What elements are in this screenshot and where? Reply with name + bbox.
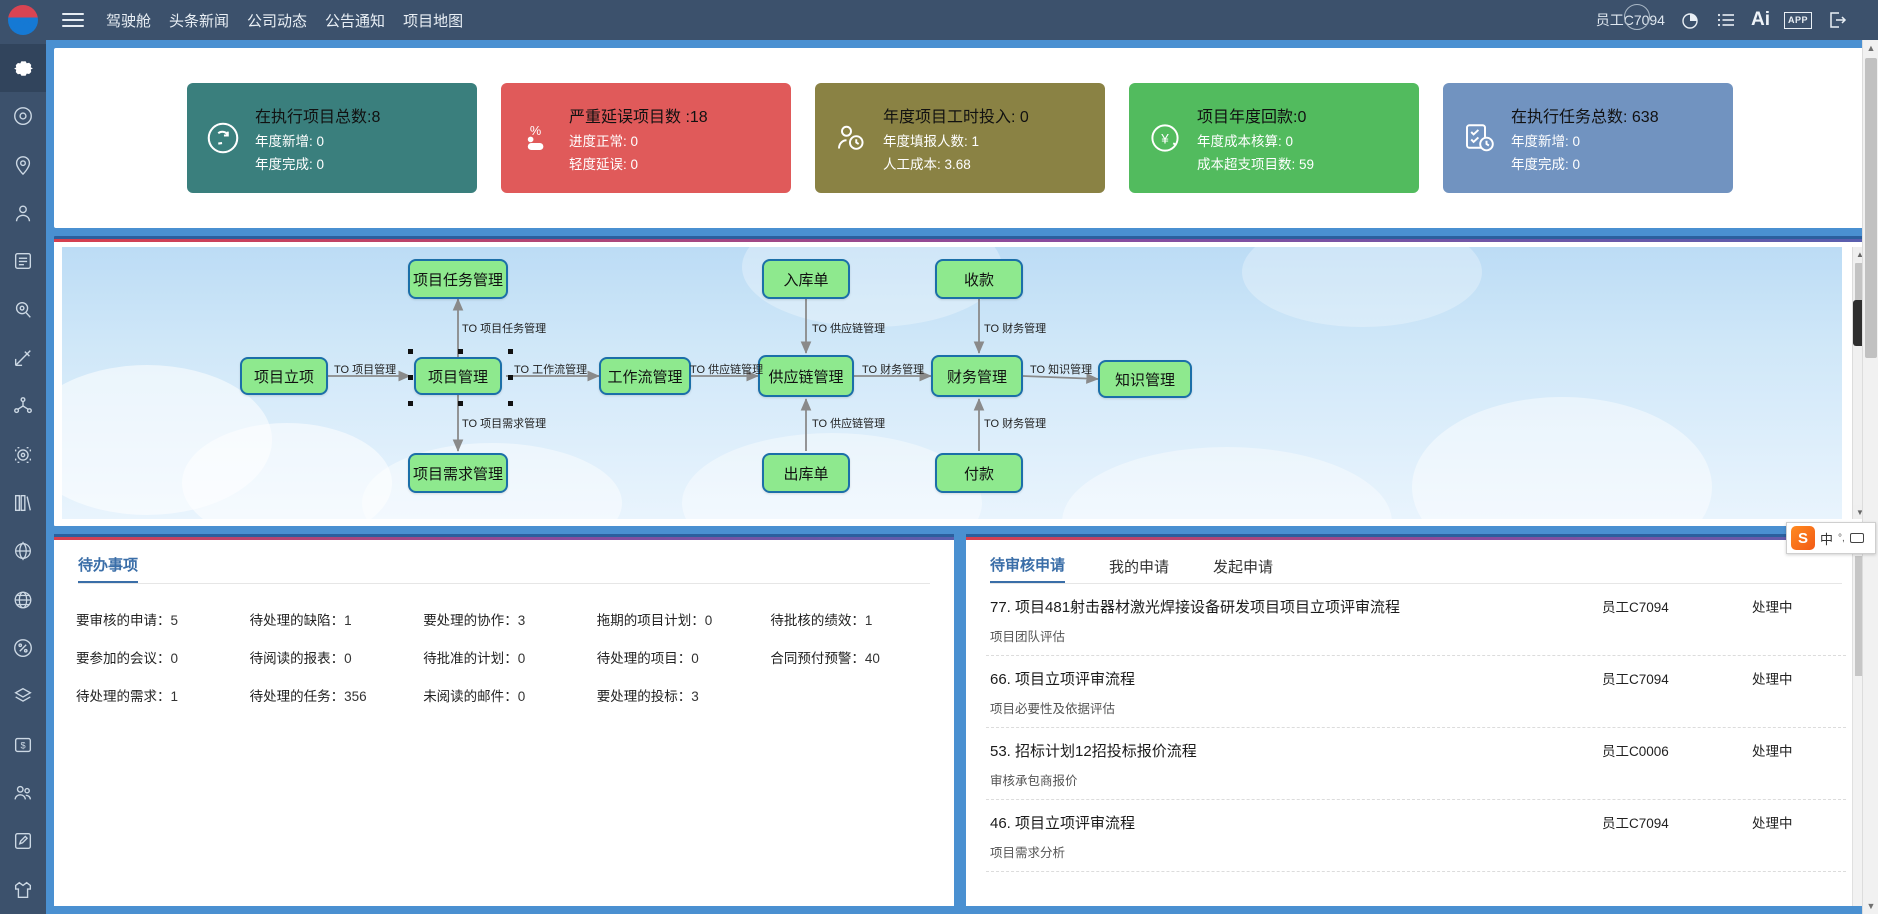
todo-value: 0 xyxy=(344,651,352,666)
todo-value: 0 xyxy=(705,613,713,628)
approval-list: 77. 项目481射击器材激光焊接设备研发项目项目立项评审流程 项目团队评估 员… xyxy=(966,584,1866,872)
todo-value: 0 xyxy=(518,651,526,666)
ime-punctuation-mode[interactable]: °, xyxy=(1838,533,1845,544)
target-icon xyxy=(12,105,34,127)
sidebar-item-money[interactable]: $ xyxy=(0,721,46,769)
todo-grid: 要审核的申请：5 待处理的缺陷：1 要处理的协作：3 拖期的项目计划：0 待批核… xyxy=(54,584,954,714)
header-actions: 员工C7094 Ai APP xyxy=(1596,9,1878,31)
globe-icon xyxy=(12,589,34,611)
todo-item-meetings-to-attend[interactable]: 要参加的会议：0 xyxy=(76,638,240,676)
sidebar-item-camera-target[interactable] xyxy=(0,431,46,479)
nav-item-cockpit[interactable]: 驾驶舱 xyxy=(106,10,151,31)
camera-target-icon xyxy=(12,444,34,466)
flow-node-label: 供应链管理 xyxy=(768,366,843,387)
todo-label: 要审核的申请 xyxy=(76,613,157,628)
sidebar-item-books[interactable] xyxy=(0,479,46,527)
percent-icon xyxy=(12,637,34,659)
flow-node-outbound-order[interactable]: 出库单 xyxy=(762,453,850,493)
edge-label: TO 项目管理 xyxy=(334,361,396,377)
sidebar-item-chart-pen[interactable] xyxy=(0,334,46,382)
sidebar-item-document[interactable] xyxy=(0,237,46,285)
todo-value: 356 xyxy=(344,689,367,704)
flow-node-project-task-management[interactable]: 项目任务管理 xyxy=(408,259,508,299)
resize-handle[interactable] xyxy=(458,349,463,354)
collapse-panel-handle[interactable] xyxy=(1853,300,1862,346)
sidebar-item-target[interactable] xyxy=(0,92,46,140)
scroll-down-arrow[interactable]: ▼ xyxy=(1863,898,1878,914)
approval-panel: 待审核申请 我的申请 发起申请 77. 项目481射击器材激光焊接设备研发项目项… xyxy=(966,534,1866,906)
yuan-circle-icon: ¥ xyxy=(1145,118,1185,158)
nav-item-company-news[interactable]: 公司动态 xyxy=(247,10,307,31)
kpi-card-active-projects[interactable]: 在执行项目总数:8 年度新增: 0 年度完成: 0 xyxy=(187,83,477,193)
logout-icon[interactable] xyxy=(1826,9,1848,31)
sidebar-item-user[interactable] xyxy=(0,189,46,237)
ai-icon[interactable]: Ai xyxy=(1751,9,1770,31)
kpi-sub-1: 年度成本核算: 0 xyxy=(1197,130,1314,150)
edge-label: TO 项目需求管理 xyxy=(462,415,546,431)
edge-label: TO 财务管理 xyxy=(984,415,1046,431)
table-row[interactable]: 46. 项目立项评审流程 项目需求分析 员工C7094 处理中 xyxy=(986,800,1846,872)
tab-new-application[interactable]: 发起申请 xyxy=(1213,556,1273,583)
table-row[interactable]: 66. 项目立项评审流程 项目必要性及依据评估 员工C7094 处理中 xyxy=(986,656,1846,728)
tab-my-applications[interactable]: 我的申请 xyxy=(1109,556,1169,583)
kpi-title: 年度项目工时投入: 0 xyxy=(883,103,1029,127)
todo-item-reports-to-read[interactable]: 待阅读的报表：0 xyxy=(250,638,414,676)
kpi-card-work-hours[interactable]: 年度项目工时投入: 0 年度填报人数: 1 人工成本: 3.68 xyxy=(815,83,1105,193)
todo-item-pending-approval-request[interactable]: 要审核的申请：5 xyxy=(76,600,240,638)
approval-subtitle: 审核承包商报价 xyxy=(990,770,1602,789)
kpi-panel: 在执行项目总数:8 年度新增: 0 年度完成: 0 % 严重延误项目数 :18 … xyxy=(54,48,1866,228)
edge-label: TO 供应链管理 xyxy=(690,361,763,377)
flow-node-supply-chain-management[interactable]: 供应链管理 xyxy=(758,355,854,397)
todo-value: 5 xyxy=(171,613,179,628)
todo-item-pending-requirements[interactable]: 待处理的需求：1 xyxy=(76,676,240,714)
kpi-card-active-tasks[interactable]: 在执行任务总数: 638 年度新增: 0 年度完成: 0 xyxy=(1443,83,1733,193)
people-icon xyxy=(12,782,34,804)
kpi-sub-1: 进度正常: 0 xyxy=(569,130,708,150)
sidebar-item-location[interactable] xyxy=(0,141,46,189)
task-clock-icon xyxy=(1459,118,1499,158)
flow-node-project-requirement-management[interactable]: 项目需求管理 xyxy=(408,453,508,493)
todo-value: 0 xyxy=(171,651,179,666)
edge-label: TO 知识管理 xyxy=(1030,361,1092,377)
kpi-sub-2: 成本超支项目数: 59 xyxy=(1197,153,1314,173)
sidebar-item-settings[interactable] xyxy=(0,44,46,92)
list-icon[interactable] xyxy=(1715,9,1737,31)
status-badge: 处理中 xyxy=(1752,812,1842,832)
sidebar-item-user-search[interactable] xyxy=(0,286,46,334)
flow-node-label: 入库单 xyxy=(783,269,828,290)
current-user[interactable]: 员工C7094 xyxy=(1596,10,1665,30)
todo-item-unread-mail[interactable]: 未阅读的邮件：0 xyxy=(423,676,587,714)
sidebar-item-globe-gear[interactable] xyxy=(0,527,46,575)
kpi-title: 项目年度回款:0 xyxy=(1197,103,1314,127)
kpi-sub-2: 人工成本: 3.68 xyxy=(883,153,1029,173)
flow-node-label: 项目任务管理 xyxy=(413,269,503,290)
todo-label: 待处理的任务 xyxy=(250,689,331,704)
todo-value: 3 xyxy=(518,613,526,628)
flow-node-label: 项目管理 xyxy=(428,366,488,387)
todo-value: 3 xyxy=(691,689,699,704)
todo-item-plans-to-approve[interactable]: 待批准的计划：0 xyxy=(423,638,587,676)
panel-accent-bar xyxy=(54,239,1866,242)
edge-label: TO 财务管理 xyxy=(984,320,1046,336)
todo-panel: 待办事项 要审核的申请：5 待处理的缺陷：1 要处理的协作：3 拖期的项目计划：… xyxy=(54,534,954,906)
kpi-card-delayed-projects[interactable]: % 严重延误项目数 :18 进度正常: 0 轻度延误: 0 xyxy=(501,83,791,193)
todo-label: 待阅读的报表 xyxy=(250,651,331,666)
chart-pen-icon xyxy=(12,347,34,369)
table-row[interactable]: 77. 项目481射击器材激光焊接设备研发项目项目立项评审流程 项目团队评估 员… xyxy=(986,584,1846,656)
flow-node-receipt[interactable]: 收款 xyxy=(935,259,1023,299)
resize-handle[interactable] xyxy=(458,401,463,406)
todo-label: 待批核的绩效 xyxy=(770,613,851,628)
kpi-title: 严重延误项目数 :18 xyxy=(569,103,708,127)
sidebar-item-shirt[interactable] xyxy=(0,866,46,914)
main-content: 在执行项目总数:8 年度新增: 0 年度完成: 0 % 严重延误项目数 :18 … xyxy=(46,40,1878,914)
todo-value: 1 xyxy=(865,613,873,628)
edge-label: TO 供应链管理 xyxy=(812,320,885,336)
sidebar-item-people[interactable] xyxy=(0,769,46,817)
todo-item-pending-collaboration[interactable]: 要处理的协作：3 xyxy=(423,600,587,638)
edge-label: TO 供应链管理 xyxy=(812,415,885,431)
scroll-up-arrow[interactable]: ▲ xyxy=(1863,40,1878,56)
flow-node-finance-management[interactable]: 财务管理 xyxy=(931,355,1023,397)
document-icon xyxy=(12,250,34,272)
resize-handle[interactable] xyxy=(408,375,413,380)
user-icon xyxy=(12,202,34,224)
flow-node-payment[interactable]: 付款 xyxy=(935,453,1023,493)
todo-label: 待处理的需求 xyxy=(76,689,157,704)
status-badge: 处理中 xyxy=(1752,740,1842,760)
sidebar-item-percent[interactable] xyxy=(0,624,46,672)
flow-node-project-initiation[interactable]: 项目立项 xyxy=(240,357,328,395)
kpi-title: 在执行任务总数: 638 xyxy=(1511,103,1659,127)
edge-label: TO 项目任务管理 xyxy=(462,320,546,336)
gear-icon xyxy=(11,56,36,81)
app-icon[interactable]: APP xyxy=(1784,12,1812,29)
resize-handle[interactable] xyxy=(508,375,513,380)
flow-node-project-management[interactable]: 项目管理 xyxy=(414,357,502,395)
todo-label: 未阅读的邮件 xyxy=(423,689,504,704)
app-logo[interactable] xyxy=(0,0,46,40)
books-icon xyxy=(12,492,34,514)
approval-title: 46. 项目立项评审流程 xyxy=(990,812,1602,833)
approval-title: 77. 项目481射击器材激光焊接设备研发项目项目立项评审流程 xyxy=(990,596,1602,617)
todo-item-pending-defects[interactable]: 待处理的缺陷：1 xyxy=(250,600,414,638)
edge-label: TO 工作流管理 xyxy=(514,361,587,377)
flow-canvas[interactable]: 项目立项 项目管理 项目任务管理 项目需求管理 xyxy=(62,247,1842,519)
approval-subtitle: 项目团队评估 xyxy=(990,626,1602,645)
kpi-title: 在执行项目总数:8 xyxy=(255,103,380,127)
approval-user: 员工C7094 xyxy=(1602,596,1752,616)
kpi-card-annual-payment[interactable]: ¥ 项目年度回款:0 年度成本核算: 0 成本超支项目数: 59 xyxy=(1129,83,1419,193)
todo-value: 0 xyxy=(691,651,699,666)
approval-panel-header: 待审核申请 我的申请 发起申请 xyxy=(966,537,1866,583)
approval-user: 员工C7094 xyxy=(1602,668,1752,688)
resize-handle[interactable] xyxy=(408,401,413,406)
page-vertical-scrollbar[interactable]: ▲ ▼ xyxy=(1862,40,1878,914)
flow-node-workflow-management[interactable]: 工作流管理 xyxy=(599,357,691,395)
svg-text:¥: ¥ xyxy=(1160,131,1169,146)
top-header: 驾驶舱 头条新闻 公司动态 公告通知 项目地图 员工C7094 xyxy=(0,0,1878,40)
flow-node-label: 付款 xyxy=(964,463,994,484)
share-nodes-icon xyxy=(12,395,34,417)
flow-node-label: 财务管理 xyxy=(947,366,1007,387)
kpi-sub-1: 年度新增: 0 xyxy=(1511,130,1659,150)
pen-square-icon xyxy=(12,830,34,852)
flow-diagram-panel: 项目立项 项目管理 项目任务管理 项目需求管理 xyxy=(54,236,1866,526)
percent-pill-icon: % xyxy=(517,118,557,158)
todo-item-contract-prepayment-alert[interactable]: 合同预付预警：40 xyxy=(770,638,934,676)
kpi-sub-2: 轻度延误: 0 xyxy=(569,153,708,173)
location-pin-icon xyxy=(12,154,34,176)
user-search-icon xyxy=(12,299,34,321)
keyboard-icon[interactable] xyxy=(1850,533,1864,543)
todo-item-pending-tasks[interactable]: 待处理的任务：356 xyxy=(250,676,414,714)
sidebar-item-globe[interactable] xyxy=(0,576,46,624)
todo-label: 拖期的项目计划 xyxy=(597,613,692,628)
todo-item-delayed-project-plan[interactable]: 拖期的项目计划：0 xyxy=(597,600,761,638)
todo-label: 合同预付预警 xyxy=(770,651,851,666)
main-nav: 驾驶舱 头条新闻 公司动态 公告通知 项目地图 xyxy=(106,10,463,31)
approval-subtitle: 项目必要性及依据评估 xyxy=(990,698,1602,717)
svg-text:%: % xyxy=(530,123,541,138)
sogou-logo-icon[interactable]: S xyxy=(1791,526,1815,550)
kpi-sub-1: 年度新增: 0 xyxy=(255,130,380,150)
flow-node-label: 项目需求管理 xyxy=(413,463,503,484)
kpi-sub-2: 年度完成: 0 xyxy=(1511,153,1659,173)
tab-pending-approval[interactable]: 待审核申请 xyxy=(990,554,1065,583)
sidebar-item-pen-square[interactable] xyxy=(0,817,46,865)
sidebar-item-share-nodes[interactable] xyxy=(0,382,46,430)
resize-handle[interactable] xyxy=(508,401,513,406)
table-row[interactable]: 53. 招标计划12招投标报价流程 审核承包商报价 员工C0006 处理中 xyxy=(986,728,1846,800)
tab-todo[interactable]: 待办事项 xyxy=(78,554,138,583)
kpi-sub-1: 年度填报人数: 1 xyxy=(883,130,1029,150)
todo-item-empty xyxy=(770,676,934,714)
money-icon: $ xyxy=(12,734,34,756)
approval-title: 53. 招标计划12招投标报价流程 xyxy=(990,740,1602,761)
ime-language-mode[interactable]: 中 xyxy=(1820,529,1833,548)
approval-title: 66. 项目立项评审流程 xyxy=(990,668,1602,689)
flow-node-knowledge-management[interactable]: 知识管理 xyxy=(1098,360,1192,398)
todo-item-pending-performance[interactable]: 待批核的绩效：1 xyxy=(770,600,934,638)
todo-value: 40 xyxy=(865,651,880,666)
todo-label: 待批准的计划 xyxy=(423,651,504,666)
left-sidebar: $ xyxy=(0,40,46,914)
approval-user: 员工C0006 xyxy=(1602,740,1752,760)
shirt-icon xyxy=(12,879,34,901)
svg-text:$: $ xyxy=(20,740,25,750)
todo-value: 1 xyxy=(171,689,179,704)
kpi-sub-2: 年度完成: 0 xyxy=(255,153,380,173)
todo-value: 0 xyxy=(518,689,526,704)
flow-node-label: 知识管理 xyxy=(1115,369,1175,390)
todo-label: 待处理的缺陷 xyxy=(250,613,331,628)
todo-label: 要参加的会议 xyxy=(76,651,157,666)
flow-node-inbound-order[interactable]: 入库单 xyxy=(762,259,850,299)
todo-label: 待处理的项目 xyxy=(597,651,678,666)
resize-handle[interactable] xyxy=(508,349,513,354)
resize-handle[interactable] xyxy=(408,349,413,354)
approval-user: 员工C7094 xyxy=(1602,812,1752,832)
pie-chart-icon[interactable] xyxy=(1679,9,1701,31)
todo-item-pending-projects[interactable]: 待处理的项目：0 xyxy=(597,638,761,676)
sidebar-item-layers[interactable] xyxy=(0,672,46,720)
approval-subtitle: 项目需求分析 xyxy=(990,842,1602,861)
edge-label: TO 财务管理 xyxy=(862,361,924,377)
hamburger-icon[interactable] xyxy=(62,9,84,31)
scroll-thumb[interactable] xyxy=(1865,58,1877,358)
nav-item-headline-news[interactable]: 头条新闻 xyxy=(169,10,229,31)
status-badge: 处理中 xyxy=(1752,668,1842,688)
todo-label: 要处理的协作 xyxy=(423,613,504,628)
status-badge: 处理中 xyxy=(1752,596,1842,616)
todo-label: 要处理的投标 xyxy=(597,689,678,704)
todo-panel-header: 待办事项 xyxy=(54,537,954,583)
avatar xyxy=(1624,4,1650,30)
todo-item-pending-bids[interactable]: 要处理的投标：3 xyxy=(597,676,761,714)
ime-toolbar[interactable]: S 中 °, xyxy=(1786,522,1876,554)
flow-node-label: 项目立项 xyxy=(254,366,314,387)
globe-gear-icon xyxy=(12,540,34,562)
nav-item-announcements[interactable]: 公告通知 xyxy=(325,10,385,31)
flow-node-label: 出库单 xyxy=(783,463,828,484)
layers-icon xyxy=(12,685,34,707)
refresh-circle-icon xyxy=(203,118,243,158)
person-clock-icon xyxy=(831,118,871,158)
todo-value: 1 xyxy=(344,613,352,628)
mountain-logo-icon xyxy=(8,5,38,35)
nav-item-project-map[interactable]: 项目地图 xyxy=(403,10,463,31)
flow-node-label: 工作流管理 xyxy=(607,366,682,387)
flow-node-label: 收款 xyxy=(964,269,994,290)
